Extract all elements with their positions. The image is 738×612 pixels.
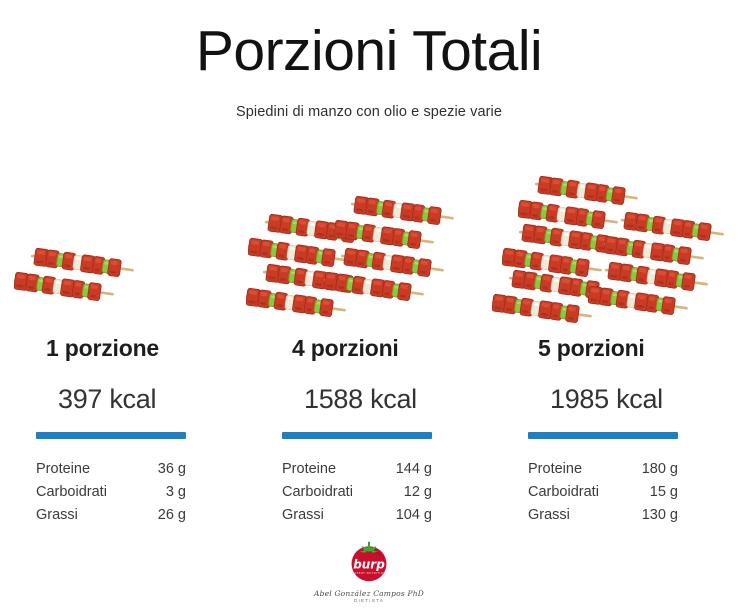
calorie-value: 1588 kcal xyxy=(282,384,480,415)
logo-signature: Abel González Campos PhD xyxy=(0,590,738,598)
nutrient-row: Carboidrati15 g xyxy=(528,480,678,503)
logo-role: DIETISTA xyxy=(0,599,738,604)
portion-heading: 4 porzioni xyxy=(282,335,480,362)
nutrient-row: Proteine144 g xyxy=(282,457,432,480)
portion-info-block: 5 porzioni1985 kcalProteine180 gCarboidr… xyxy=(492,335,738,526)
nutrient-row: Carboidrati3 g xyxy=(36,480,186,503)
portion-info-block: 4 porzioni1588 kcalProteine144 gCarboidr… xyxy=(246,335,492,526)
skewer-pair-icon xyxy=(14,246,146,312)
portion-info-block: 1 porzione397 kcalProteine36 gCarboidrat… xyxy=(0,335,246,526)
skewer-pair-icon xyxy=(324,246,456,312)
nutrient-label: Carboidrati xyxy=(36,480,143,503)
nutrient-row: Grassi26 g xyxy=(36,503,186,526)
skewer-illustration-group xyxy=(246,150,492,335)
accent-divider xyxy=(282,432,432,439)
nutrient-table: Proteine36 gCarboidrati3 gGrassi26 g xyxy=(36,457,186,526)
burp-tomato-logo-icon: burp EXPERT NUTRITION xyxy=(346,538,392,584)
portion-heading: 5 porzioni xyxy=(528,335,726,362)
nutrient-label: Proteine xyxy=(282,457,381,480)
nutrient-value: 12 g xyxy=(381,480,432,503)
nutrient-table: Proteine180 gCarboidrati15 gGrassi130 g xyxy=(528,457,678,526)
portion-columns: 1 porzione397 kcalProteine36 gCarboidrat… xyxy=(0,150,738,540)
calorie-value: 397 kcal xyxy=(36,384,234,415)
skewer-illustration-group xyxy=(0,150,246,335)
accent-divider xyxy=(528,432,678,439)
nutrient-label: Grassi xyxy=(282,503,381,526)
nutrient-label: Grassi xyxy=(36,503,143,526)
nutrient-label: Grassi xyxy=(528,503,627,526)
portion-column-2: 4 porzioni1588 kcalProteine144 gCarboidr… xyxy=(246,150,492,540)
portion-heading: 1 porzione xyxy=(36,335,234,362)
nutrient-value: 144 g xyxy=(381,457,432,480)
nutrient-value: 26 g xyxy=(143,503,186,526)
nutrient-label: Proteine xyxy=(36,457,143,480)
svg-text:burp: burp xyxy=(353,557,385,571)
nutrient-row: Proteine180 g xyxy=(528,457,678,480)
portion-column-3: 5 porzioni1985 kcalProteine180 gCarboidr… xyxy=(492,150,738,540)
calorie-value: 1985 kcal xyxy=(528,384,726,415)
footer-logo: burp EXPERT NUTRITION Abel González Camp… xyxy=(0,538,738,604)
skewer-illustration-group xyxy=(492,150,738,335)
nutrient-value: 15 g xyxy=(627,480,678,503)
portion-column-1: 1 porzione397 kcalProteine36 gCarboidrat… xyxy=(0,150,246,540)
accent-divider xyxy=(36,432,186,439)
page-subtitle: Spiedini di manzo con olio e spezie vari… xyxy=(0,104,738,120)
nutrient-table: Proteine144 gCarboidrati12 gGrassi104 g xyxy=(282,457,432,526)
page-title: Porzioni Totali xyxy=(0,22,738,82)
nutrient-row: Grassi130 g xyxy=(528,503,678,526)
nutrient-label: Carboidrati xyxy=(528,480,627,503)
nutrient-value: 3 g xyxy=(143,480,186,503)
nutrient-value: 36 g xyxy=(143,457,186,480)
nutrient-value: 130 g xyxy=(627,503,678,526)
nutrient-label: Proteine xyxy=(528,457,627,480)
nutrient-value: 180 g xyxy=(627,457,678,480)
nutrient-value: 104 g xyxy=(381,503,432,526)
nutrient-row: Proteine36 g xyxy=(36,457,186,480)
svg-text:EXPERT NUTRITION: EXPERT NUTRITION xyxy=(352,571,386,575)
nutrient-row: Grassi104 g xyxy=(282,503,432,526)
nutrient-label: Carboidrati xyxy=(282,480,381,503)
header: Porzioni Totali Spiedini di manzo con ol… xyxy=(0,0,738,120)
nutrient-row: Carboidrati12 g xyxy=(282,480,432,503)
skewer-pair-icon xyxy=(588,260,720,326)
